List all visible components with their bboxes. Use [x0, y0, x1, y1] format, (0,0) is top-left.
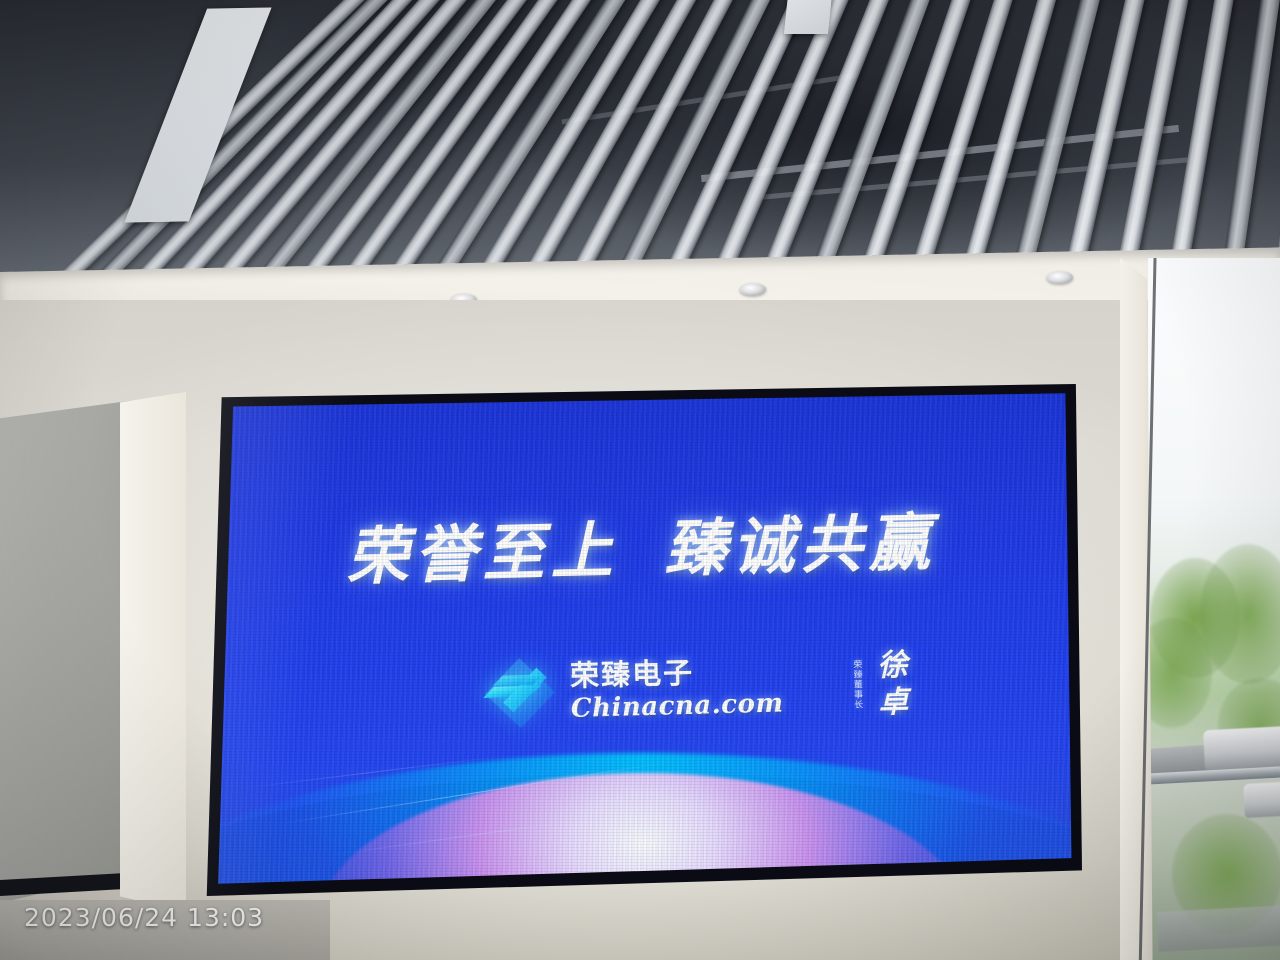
parked-car	[1203, 726, 1280, 771]
parked-car	[1243, 780, 1280, 818]
brand-text: 荣臻电子 Chinacna.com	[570, 656, 784, 721]
slogan: 荣誉至上臻诚共赢	[205, 488, 1081, 600]
chairman-signature: 荣臻董事长 徐卓	[850, 649, 912, 724]
right-window	[1120, 258, 1280, 960]
slogan-right: 臻诚共赢	[663, 506, 937, 586]
alcove-wall-return	[120, 392, 186, 912]
recessed-downlight-icon	[740, 283, 766, 295]
rhombus-z-logo-icon	[482, 655, 558, 731]
screen-content: 荣誉至上臻诚共赢	[205, 384, 1082, 896]
photo-timestamp: 2023/06/24 13:03	[24, 903, 264, 932]
brand-name-en: Chinacna.com	[571, 690, 784, 721]
recessed-downlight-icon	[1047, 271, 1073, 283]
slogan-left: 荣誉至上	[345, 514, 619, 594]
brand-name-cn: 荣臻电子	[570, 656, 783, 690]
window-glass	[1148, 258, 1280, 960]
brand-lockup: 荣臻电子 Chinacna.com	[482, 649, 784, 731]
photo-scene: 荣誉至上臻诚共赢	[0, 0, 1280, 960]
led-video-wall[interactable]: 荣誉至上臻诚共赢	[205, 384, 1082, 896]
signature-title: 荣臻董事长	[850, 660, 864, 710]
led-screen-surface[interactable]: 荣誉至上臻诚共赢	[205, 384, 1082, 896]
ceiling-panel	[784, 0, 832, 34]
signature-name: 徐卓	[866, 649, 912, 724]
